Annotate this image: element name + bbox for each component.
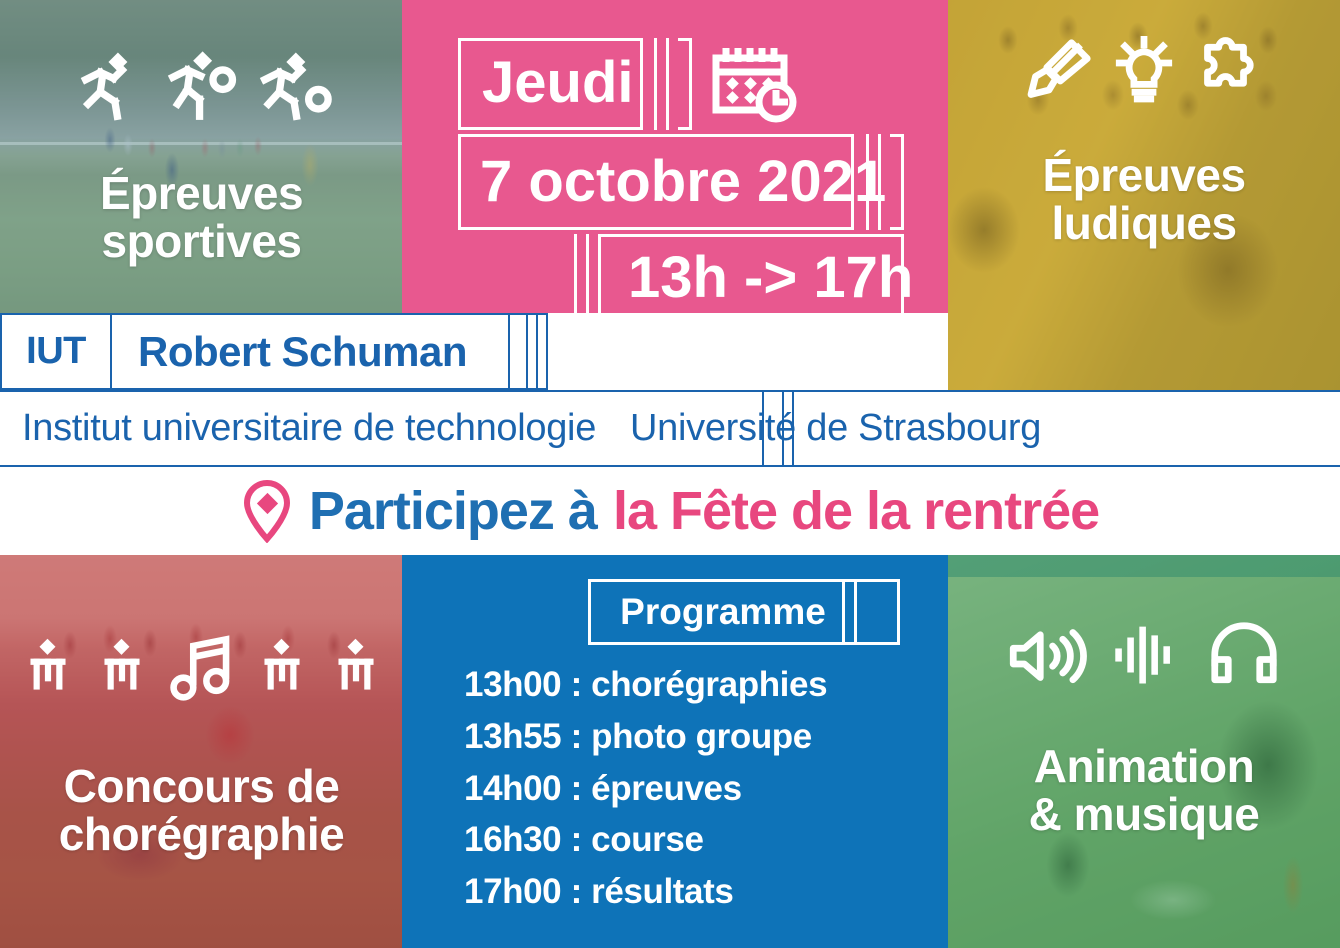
logo-name: Robert Schuman xyxy=(138,328,467,376)
people-group-icon xyxy=(0,637,7,703)
people-group-icon xyxy=(15,637,81,703)
runner-ball-icon xyxy=(255,48,333,126)
poster-root: Épreuves sportives Jeudi xyxy=(0,0,1340,948)
runner-ball-icon xyxy=(163,48,241,126)
animation-caption-line1: Animation xyxy=(1029,743,1260,791)
people-group-icon xyxy=(249,637,315,703)
date-day: Jeudi xyxy=(482,52,634,114)
people-group-icon xyxy=(89,637,155,703)
location-pin-icon xyxy=(241,479,293,543)
animation-icon-row xyxy=(1004,619,1284,691)
headphones-icon xyxy=(1204,619,1284,691)
choreo-caption-line1: Concours de xyxy=(59,763,344,811)
title-prefix: Participez à xyxy=(309,480,597,542)
programme-row: 17h00 : résultats xyxy=(464,866,948,918)
waveform-icon xyxy=(1112,619,1182,691)
logo-separator-2 xyxy=(526,315,528,388)
tile-animation-musique: Animation & musique xyxy=(948,555,1340,948)
choreo-caption: Concours de chorégraphie xyxy=(59,763,344,859)
tile-epreuves-sportives: Épreuves sportives xyxy=(0,0,403,313)
date-tick-box xyxy=(890,134,904,230)
animation-caption: Animation & musique xyxy=(1029,743,1260,839)
paintbrush-icon xyxy=(1022,36,1094,108)
tile-epreuves-ludiques: Épreuves ludiques xyxy=(948,0,1340,392)
title-highlight: la Fête de la rentrée xyxy=(613,480,1099,542)
puzzle-piece-icon xyxy=(1194,36,1266,108)
iut-logo-block: IUT Robert Schuman xyxy=(0,313,548,390)
time-tick-2 xyxy=(586,234,589,324)
music-notes-icon xyxy=(163,635,241,705)
date-panel: Jeudi 7 octobre 2021 xyxy=(402,0,948,313)
people-group-icon xyxy=(323,637,389,703)
programme-panel: Programme 13h00 : chorégraphies 13h55 : … xyxy=(402,555,948,948)
logo-acronym: IUT xyxy=(26,330,86,373)
logo-name-cell: Robert Schuman xyxy=(112,315,546,388)
ludiques-caption-line1: Épreuves xyxy=(1042,152,1245,200)
sports-caption: Épreuves sportives xyxy=(100,170,303,266)
institution-separator-1 xyxy=(762,392,764,465)
jeudi-tick-2 xyxy=(666,38,669,130)
sports-caption-line2: sportives xyxy=(100,218,303,266)
logo-acronym-cell: IUT xyxy=(2,315,112,388)
choreo-icon-row xyxy=(0,635,403,705)
date-full: 7 octobre 2021 xyxy=(480,150,886,214)
runner-icon xyxy=(71,48,149,126)
programme-row: 14h00 : épreuves xyxy=(464,763,948,815)
jeudi-tick-box xyxy=(678,38,692,130)
programme-row: 16h30 : course xyxy=(464,814,948,866)
institution-separator-3 xyxy=(792,392,794,465)
programme-heading: Programme xyxy=(598,589,848,635)
programme-tick-2 xyxy=(854,579,857,645)
jeudi-tick-1 xyxy=(654,38,657,130)
main-title-bar: Participez à la Fête de la rentrée xyxy=(0,467,1340,555)
logo-separator-3 xyxy=(536,315,538,388)
animation-caption-line2: & musique xyxy=(1029,791,1260,839)
sports-caption-line1: Épreuves xyxy=(100,170,303,218)
calendar-clock-icon xyxy=(706,40,800,126)
time-tick-1 xyxy=(574,234,577,324)
programme-row: 13h55 : photo groupe xyxy=(464,711,948,763)
tile-concours-choregraphie: Concours de chorégraphie xyxy=(0,555,403,948)
choreo-caption-line2: chorégraphie xyxy=(59,811,344,859)
ludiques-caption: Épreuves ludiques xyxy=(1042,152,1245,248)
ludiques-icon-row xyxy=(1022,36,1266,108)
institution-right: Université de Strasbourg xyxy=(630,407,1041,450)
institution-left: Institut universitaire de technologie xyxy=(22,407,596,450)
programme-list: 13h00 : chorégraphies 13h55 : photo grou… xyxy=(402,659,948,918)
logo-separator-1 xyxy=(508,315,510,388)
lightbulb-icon xyxy=(1108,36,1180,108)
programme-row: 13h00 : chorégraphies xyxy=(464,659,948,711)
speaker-icon xyxy=(1004,619,1090,691)
institution-separator-2 xyxy=(782,392,784,465)
sports-icon-row xyxy=(71,48,333,126)
institution-line: Institut universitaire de technologie Un… xyxy=(0,390,1340,467)
ludiques-caption-line2: ludiques xyxy=(1042,200,1245,248)
date-time: 13h -> 17h xyxy=(628,246,913,310)
